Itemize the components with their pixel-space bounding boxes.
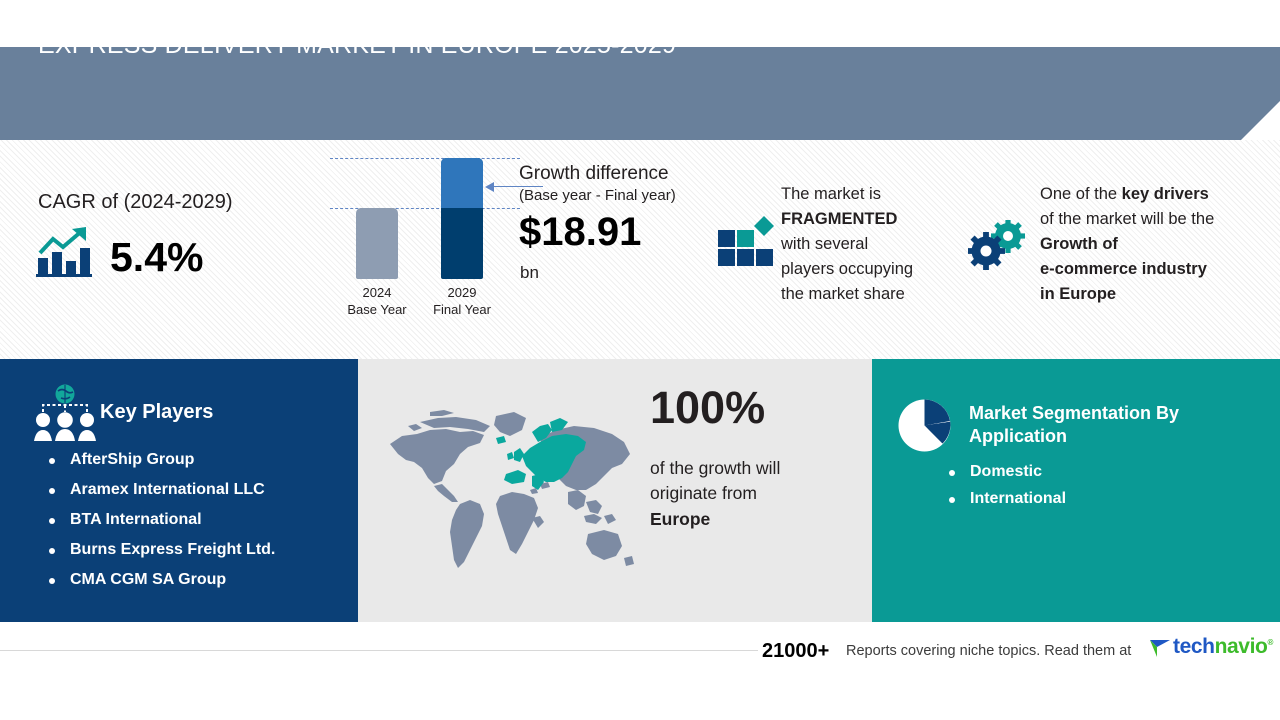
growth-percent-text: of the growth will originate from Europe (650, 456, 840, 532)
list-item: AfterShip Group (42, 451, 275, 469)
key-players-title: Key Players (100, 401, 213, 424)
squares-blocks-icon (716, 216, 774, 268)
pie-chart-icon (897, 398, 952, 453)
segmentation-title: Market Segmentation By Application (969, 402, 1239, 448)
key-drivers-bold-line2: e-commerce industry (1040, 260, 1207, 278)
growth-difference-subtitle: (Base year - Final year) (519, 187, 676, 204)
growth-percent-value: 100% (650, 385, 765, 430)
fragmented-line3: players occupying (781, 260, 913, 278)
list-item: Burns Express Freight Ltd. (42, 541, 275, 559)
growth-difference-title: Growth difference (519, 163, 669, 185)
growth-percent-line1: of the growth will (650, 458, 780, 478)
list-item: BTA International (42, 511, 275, 529)
key-players-list: AfterShip Group Aramex International LLC… (42, 451, 275, 601)
bar-label-final-year: 2029 Final Year (412, 285, 512, 318)
logo-text-navio: navio (1215, 635, 1268, 658)
fragmented-line2: with several (781, 235, 868, 253)
key-drivers-bold-line1: Growth of (1040, 235, 1118, 253)
bar-sublabel-final: Final Year (412, 302, 512, 319)
footer-tagline: Reports covering niche topics. Read them… (846, 643, 1131, 659)
segmentation-list: Domestic International (942, 463, 1066, 517)
cagr-value: 5.4% (110, 237, 203, 278)
bar-chart-growth-icon (36, 225, 94, 277)
bar-growth-segment (441, 158, 483, 208)
fragmented-line4: the market share (781, 285, 905, 303)
technavio-arrow-icon (1150, 638, 1170, 658)
key-drivers-prefix: One of the (1040, 185, 1122, 203)
fragmented-text: The market is FRAGMENTED with several pl… (781, 182, 953, 307)
bar-year-2029: 2029 (412, 285, 512, 302)
growth-percent-line2: originate from (650, 483, 757, 503)
gears-icon (968, 220, 1030, 270)
key-drivers-line2: of the market will be the (1040, 210, 1214, 228)
fragmented-emphasis: FRAGMENTED (781, 210, 897, 228)
list-item: CMA CGM SA Group (42, 571, 275, 589)
bar-base-year (356, 208, 398, 279)
key-drivers-bold-line3: in Europe (1040, 285, 1116, 303)
list-item: Domestic (942, 463, 1066, 481)
growth-difference-value: $18.91 (519, 212, 641, 252)
bar-chart: 2024 Base Year 2029 Final Year (330, 155, 520, 320)
list-item: International (942, 490, 1066, 508)
growth-percent-region: Europe (650, 509, 710, 529)
technavio-wordmark: technavio® (1173, 635, 1273, 659)
technavio-logo[interactable]: technavio® (1150, 635, 1272, 661)
header-bar (0, 47, 1280, 140)
bar-final-year (441, 158, 483, 279)
key-drivers-bold-phrase: key drivers (1122, 185, 1209, 203)
footer-report-count: 21000+ (762, 640, 829, 663)
footer-divider (0, 650, 758, 651)
logo-trademark: ® (1267, 638, 1273, 647)
infographic-root: EXPRESS DELIVERY MARKET IN EUROPE 2025-2… (0, 0, 1280, 720)
world-map (372, 398, 638, 582)
page-title: EXPRESS DELIVERY MARKET IN EUROPE 2025-2… (38, 31, 676, 60)
logo-text-tech: tech (1173, 635, 1215, 658)
list-item: Aramex International LLC (42, 481, 275, 499)
growth-difference-unit: bn (520, 263, 539, 283)
gridline-top (330, 158, 520, 159)
globe-network-people-icon (34, 384, 96, 442)
key-drivers-text: One of the key drivers of the market wil… (1040, 182, 1264, 307)
cagr-label: CAGR of (2024-2029) (38, 191, 233, 214)
fragmented-line1: The market is (781, 185, 881, 203)
